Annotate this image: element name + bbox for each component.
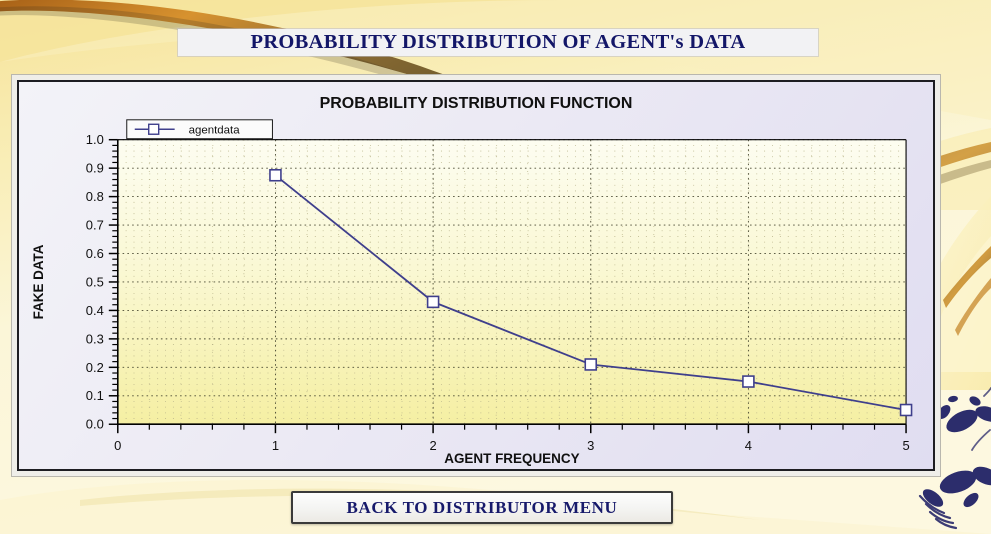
y-axis-label: FAKE DATA bbox=[31, 244, 46, 319]
page-title: PROBABILITY DISTRIBUTION OF AGENT's DATA bbox=[178, 29, 818, 56]
y-tick-label: 0.8 bbox=[86, 189, 104, 204]
chart-inner-frame: PROBABILITY DISTRIBUTION FUNCTION 0.00.1… bbox=[17, 80, 935, 471]
y-tick-label: 0.9 bbox=[86, 161, 104, 176]
series-marker bbox=[428, 296, 439, 307]
y-tick-label: 0.2 bbox=[86, 360, 104, 375]
y-tick-label: 0.1 bbox=[86, 388, 104, 403]
y-tick-label: 0.3 bbox=[86, 331, 104, 346]
y-tick-label: 1.0 bbox=[86, 132, 104, 147]
chart-panel: PROBABILITY DISTRIBUTION FUNCTION 0.00.1… bbox=[11, 74, 941, 477]
x-tick-label: 0 bbox=[114, 438, 121, 453]
back-button-label: BACK TO DISTRIBUTOR MENU bbox=[347, 498, 618, 518]
series-marker bbox=[743, 376, 754, 387]
page-title-text: PROBABILITY DISTRIBUTION OF AGENT's DATA bbox=[251, 31, 746, 54]
x-tick-label: 5 bbox=[902, 438, 909, 453]
x-tick-label: 2 bbox=[429, 438, 436, 453]
y-tick-label: 0.5 bbox=[86, 274, 104, 289]
legend-marker-icon bbox=[149, 124, 159, 134]
chart-legend[interactable]: agentdata bbox=[127, 120, 273, 139]
x-axis-label: AGENT FREQUENCY bbox=[444, 451, 579, 466]
y-tick-label: 0.6 bbox=[86, 246, 104, 261]
x-tick-label: 3 bbox=[587, 438, 594, 453]
y-tick-label: 0.0 bbox=[86, 417, 104, 432]
legend-label: agentdata bbox=[189, 125, 241, 137]
series-marker bbox=[585, 359, 596, 370]
back-to-distributor-menu-button[interactable]: BACK TO DISTRIBUTOR MENU bbox=[291, 491, 673, 524]
y-tick-label: 0.7 bbox=[86, 218, 104, 233]
y-tick-label: 0.4 bbox=[86, 303, 104, 318]
y-axis-ticks: 0.00.10.20.30.40.50.60.70.80.91.0 bbox=[86, 132, 118, 432]
chart-title: PROBABILITY DISTRIBUTION FUNCTION bbox=[320, 95, 633, 112]
probability-distribution-chart: PROBABILITY DISTRIBUTION FUNCTION 0.00.1… bbox=[19, 82, 933, 469]
x-tick-label: 1 bbox=[272, 438, 279, 453]
x-tick-label: 4 bbox=[745, 438, 752, 453]
series-marker bbox=[901, 405, 912, 416]
x-axis-ticks: 012345 bbox=[114, 424, 909, 453]
series-marker bbox=[270, 170, 281, 181]
